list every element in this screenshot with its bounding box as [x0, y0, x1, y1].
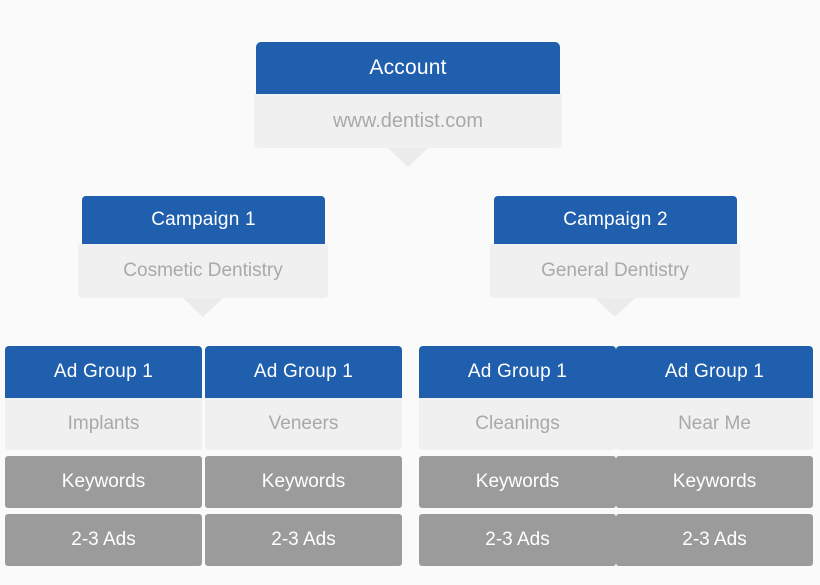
- campaign-1-subtitle[interactable]: Cosmetic Dentistry: [78, 244, 328, 298]
- ad-group-title[interactable]: Ad Group 1: [616, 346, 813, 398]
- ad-group-keywords-cell[interactable]: Keywords: [419, 456, 616, 508]
- account-structure-diagram: Account www.dentist.com Campaign 1 Cosme…: [0, 0, 820, 585]
- ad-group-column: Ad Group 1 Cleanings Keywords 2-3 Ads: [419, 346, 616, 566]
- account-node-title[interactable]: Account: [256, 42, 560, 94]
- arrow-down-icon-campaign-1: [183, 298, 223, 317]
- campaign-2-title[interactable]: Campaign 2: [494, 196, 737, 244]
- campaign-1-title[interactable]: Campaign 1: [82, 196, 325, 244]
- arrow-down-icon-account: [388, 148, 428, 167]
- campaign-2-subtitle[interactable]: General Dentistry: [490, 244, 740, 298]
- ad-group-ads-cell[interactable]: 2-3 Ads: [419, 514, 616, 566]
- ad-group-subtitle[interactable]: Cleanings: [419, 398, 616, 450]
- ad-group-subtitle[interactable]: Near Me: [616, 398, 813, 450]
- ad-group-column: Ad Group 1 Implants Keywords 2-3 Ads: [5, 346, 202, 566]
- ad-group-ads-cell[interactable]: 2-3 Ads: [616, 514, 813, 566]
- ad-group-column: Ad Group 1 Veneers Keywords 2-3 Ads: [205, 346, 402, 566]
- ad-group-ads-cell[interactable]: 2-3 Ads: [205, 514, 402, 566]
- ad-group-ads-cell[interactable]: 2-3 Ads: [5, 514, 202, 566]
- ad-group-title[interactable]: Ad Group 1: [419, 346, 616, 398]
- ad-group-title[interactable]: Ad Group 1: [205, 346, 402, 398]
- ad-group-keywords-cell[interactable]: Keywords: [616, 456, 813, 508]
- ad-group-subtitle[interactable]: Implants: [5, 398, 202, 450]
- ad-group-keywords-cell[interactable]: Keywords: [5, 456, 202, 508]
- ad-group-column: Ad Group 1 Near Me Keywords 2-3 Ads: [616, 346, 813, 566]
- ad-group-title[interactable]: Ad Group 1: [5, 346, 202, 398]
- arrow-down-icon-campaign-2: [595, 298, 635, 317]
- ad-group-subtitle[interactable]: Veneers: [205, 398, 402, 450]
- account-node-subtitle[interactable]: www.dentist.com: [254, 94, 562, 148]
- ad-group-keywords-cell[interactable]: Keywords: [205, 456, 402, 508]
